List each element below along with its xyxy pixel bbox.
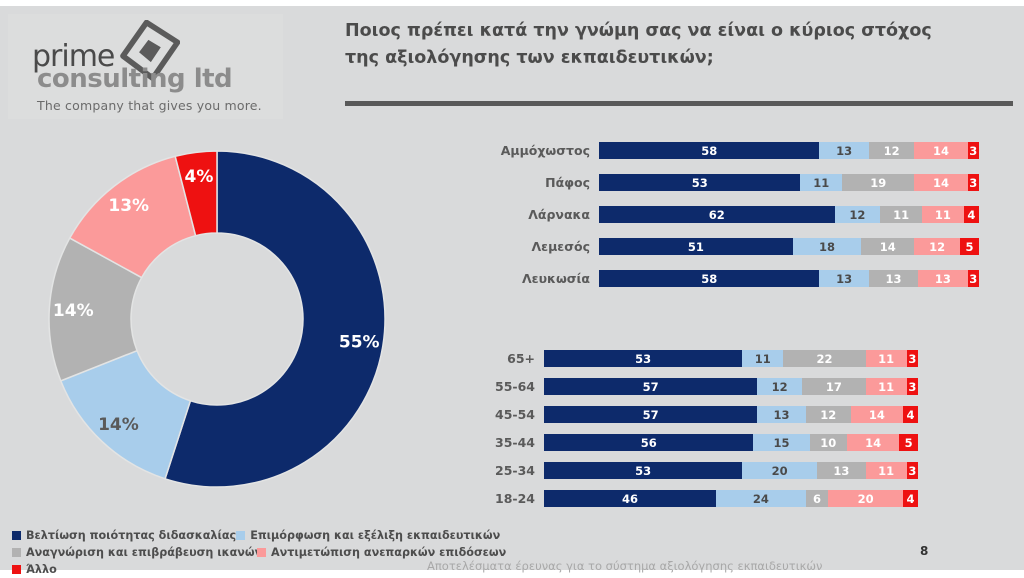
bar-segment: 58 <box>599 270 819 287</box>
bar-row: 35-44561510145 <box>480 434 918 451</box>
bar-segment: 3 <box>968 270 979 287</box>
bar-segment: 14 <box>847 434 899 451</box>
donut-chart-svg: 55%14%14%13%4% <box>25 134 425 514</box>
bar-row: Αμμόχωστος581312143 <box>480 142 979 159</box>
bar-segment: 13 <box>757 406 806 423</box>
bar-segment: 11 <box>880 206 922 223</box>
bar-track: 571217113 <box>544 378 918 395</box>
bar-segment: 15 <box>753 434 809 451</box>
bar-category-label: 45-54 <box>480 407 544 422</box>
bar-track: 531119143 <box>599 174 979 191</box>
donut-chart: 55%14%14%13%4% <box>25 134 425 514</box>
legend-swatch-icon <box>12 548 21 557</box>
page-number: 8 <box>920 544 928 558</box>
bar-segment: 57 <box>544 378 757 395</box>
donut-slice-label: 13% <box>108 196 149 216</box>
bar-track: 581313133 <box>599 270 979 287</box>
bar-row: Πάφος531119143 <box>480 174 979 191</box>
legend-swatch-icon <box>236 531 245 540</box>
bar-segment: 24 <box>716 490 806 507</box>
bar-segment: 58 <box>599 142 819 159</box>
bar-segment: 13 <box>817 462 866 479</box>
legend-label: Επιμόρφωση και εξέλιξη εκπαιδευτικών <box>250 529 500 542</box>
company-logo: prime consulting ltd The company that gi… <box>8 14 283 119</box>
bar-segment: 11 <box>866 350 907 367</box>
bar-track: 561510145 <box>544 434 918 451</box>
chart-legend: Βελτίωση ποιότητας διδασκαλίας Επιμόρφωσ… <box>12 527 482 578</box>
bar-category-label: Λευκωσία <box>480 271 599 286</box>
donut-slice-label: 14% <box>98 415 139 435</box>
bar-segment: 6 <box>806 490 828 507</box>
footer-note: Αποτελέσματα έρευνας για το σύστημα αξιο… <box>427 559 822 573</box>
bar-track: 571312144 <box>544 406 918 423</box>
bar-segment: 5 <box>960 238 979 255</box>
bar-segment: 11 <box>866 462 907 479</box>
bar-segment: 19 <box>842 174 914 191</box>
bar-segment: 12 <box>757 378 802 395</box>
legend-label: Αναγνώριση και επιβράβευση ικανών <box>26 546 262 559</box>
bar-chart-age-groups: 65+53112211355-6457121711345-54571312144… <box>480 350 918 518</box>
bar-segment: 22 <box>783 350 865 367</box>
bar-segment: 14 <box>914 142 967 159</box>
bar-segment: 62 <box>599 206 835 223</box>
bar-row: 18-2446246204 <box>480 490 918 507</box>
bar-segment: 14 <box>851 406 903 423</box>
bar-segment: 13 <box>819 270 868 287</box>
logo-tagline: The company that gives you more. <box>37 98 262 113</box>
bar-track: 511814125 <box>599 238 979 255</box>
bar-segment: 11 <box>922 206 964 223</box>
bar-row: Λευκωσία581313133 <box>480 270 979 287</box>
bar-chart-districts: Αμμόχωστος581312143Πάφος531119143Λάρνακα… <box>480 142 979 302</box>
bar-segment: 12 <box>869 142 915 159</box>
bar-category-label: 35-44 <box>480 435 544 450</box>
legend-item-1: Επιμόρφωση και εξέλιξη εκπαιδευτικών <box>236 529 500 542</box>
bar-category-label: 18-24 <box>480 491 544 506</box>
legend-swatch-icon <box>12 531 21 540</box>
bar-segment: 4 <box>903 490 918 507</box>
header-divider <box>345 101 1013 106</box>
bar-segment: 12 <box>806 406 851 423</box>
logo-word-consulting: consulting ltd <box>37 66 232 92</box>
bar-row: 65+531122113 <box>480 350 918 367</box>
bar-segment: 20 <box>828 490 903 507</box>
bar-segment: 12 <box>835 206 881 223</box>
bar-track: 46246204 <box>544 490 918 507</box>
bar-row: Λάρνακα621211114 <box>480 206 979 223</box>
legend-row: Βελτίωση ποιότητας διδασκαλίας Επιμόρφωσ… <box>12 527 482 544</box>
donut-slice-label: 14% <box>53 301 94 321</box>
bar-segment: 17 <box>802 378 866 395</box>
bar-category-label: 25-34 <box>480 463 544 478</box>
bar-row: 45-54571312144 <box>480 406 918 423</box>
bar-segment: 53 <box>544 350 742 367</box>
legend-label: Βελτίωση ποιότητας διδασκαλίας <box>26 529 236 542</box>
bar-segment: 13 <box>869 270 918 287</box>
legend-row: Αναγνώριση και επιβράβευση ικανών Αντιμε… <box>12 544 482 561</box>
bar-segment: 3 <box>907 350 918 367</box>
bar-segment: 20 <box>742 462 817 479</box>
bar-segment: 11 <box>866 378 907 395</box>
legend-label: Αντιμετώπιση ανεπαρκών επιδόσεων <box>271 546 506 559</box>
bar-segment: 51 <box>599 238 793 255</box>
slide-canvas: prime consulting ltd The company that gi… <box>0 0 1024 570</box>
bar-segment: 4 <box>964 206 979 223</box>
bar-segment: 53 <box>544 462 742 479</box>
bar-segment: 11 <box>742 350 783 367</box>
bar-segment: 56 <box>544 434 753 451</box>
bar-category-label: 65+ <box>480 351 544 366</box>
bar-category-label: Λάρνακα <box>480 207 599 222</box>
bar-segment: 13 <box>918 270 967 287</box>
bar-segment: 53 <box>599 174 800 191</box>
bar-segment: 5 <box>899 434 918 451</box>
donut-slice-label: 4% <box>185 167 214 187</box>
bar-row: Λεμεσός511814125 <box>480 238 979 255</box>
bar-segment: 57 <box>544 406 757 423</box>
legend-item-2: Αναγνώριση και επιβράβευση ικανών <box>12 546 257 559</box>
legend-item-3: Αντιμετώπιση ανεπαρκών επιδόσεων <box>257 546 506 559</box>
bar-track: 581312143 <box>599 142 979 159</box>
bar-track: 531122113 <box>544 350 918 367</box>
bar-category-label: Πάφος <box>480 175 599 190</box>
bar-segment: 12 <box>914 238 960 255</box>
bar-segment: 3 <box>968 142 979 159</box>
bar-segment: 10 <box>810 434 847 451</box>
donut-slice-label: 55% <box>339 333 380 353</box>
bar-row: 25-34532013113 <box>480 462 918 479</box>
bar-segment: 3 <box>907 378 918 395</box>
bar-category-label: Λεμεσός <box>480 239 599 254</box>
bar-segment: 11 <box>800 174 842 191</box>
bar-segment: 14 <box>861 238 914 255</box>
bar-track: 532013113 <box>544 462 918 479</box>
page-title: Ποιος πρέπει κατά την γνώμη σας να είναι… <box>345 18 965 72</box>
bar-segment: 3 <box>907 462 918 479</box>
bar-category-label: 55-64 <box>480 379 544 394</box>
bar-segment: 4 <box>903 406 918 423</box>
legend-swatch-icon <box>257 548 266 557</box>
bar-segment: 14 <box>914 174 967 191</box>
bar-category-label: Αμμόχωστος <box>480 143 599 158</box>
bar-segment: 3 <box>968 174 979 191</box>
bar-track: 621211114 <box>599 206 979 223</box>
bar-segment: 46 <box>544 490 716 507</box>
legend-item-0: Βελτίωση ποιότητας διδασκαλίας <box>12 529 236 542</box>
bar-row: 55-64571217113 <box>480 378 918 395</box>
bar-segment: 13 <box>819 142 868 159</box>
bar-segment: 18 <box>793 238 861 255</box>
